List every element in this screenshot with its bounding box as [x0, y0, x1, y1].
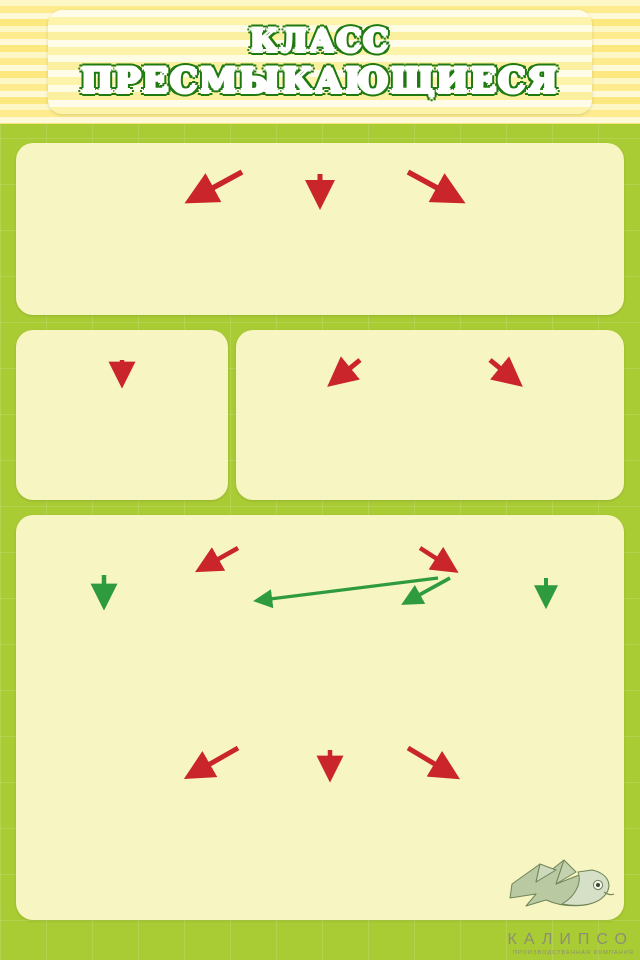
fish-icon: [506, 850, 618, 916]
panel-crocodiles: [236, 330, 624, 500]
panel-rhynchocephalia: [16, 330, 228, 500]
logo-tagline: ПРОИЗВОДСТВЕННАЯ КОМПАНИЯ: [508, 950, 635, 956]
header-plate: [48, 10, 592, 114]
panel-turtles: [16, 143, 624, 315]
company-logo: КАЛИПСО ПРОИЗВОДСТВЕННАЯ КОМПАНИЯ: [508, 931, 635, 956]
logo-name: КАЛИПСО: [508, 931, 635, 949]
